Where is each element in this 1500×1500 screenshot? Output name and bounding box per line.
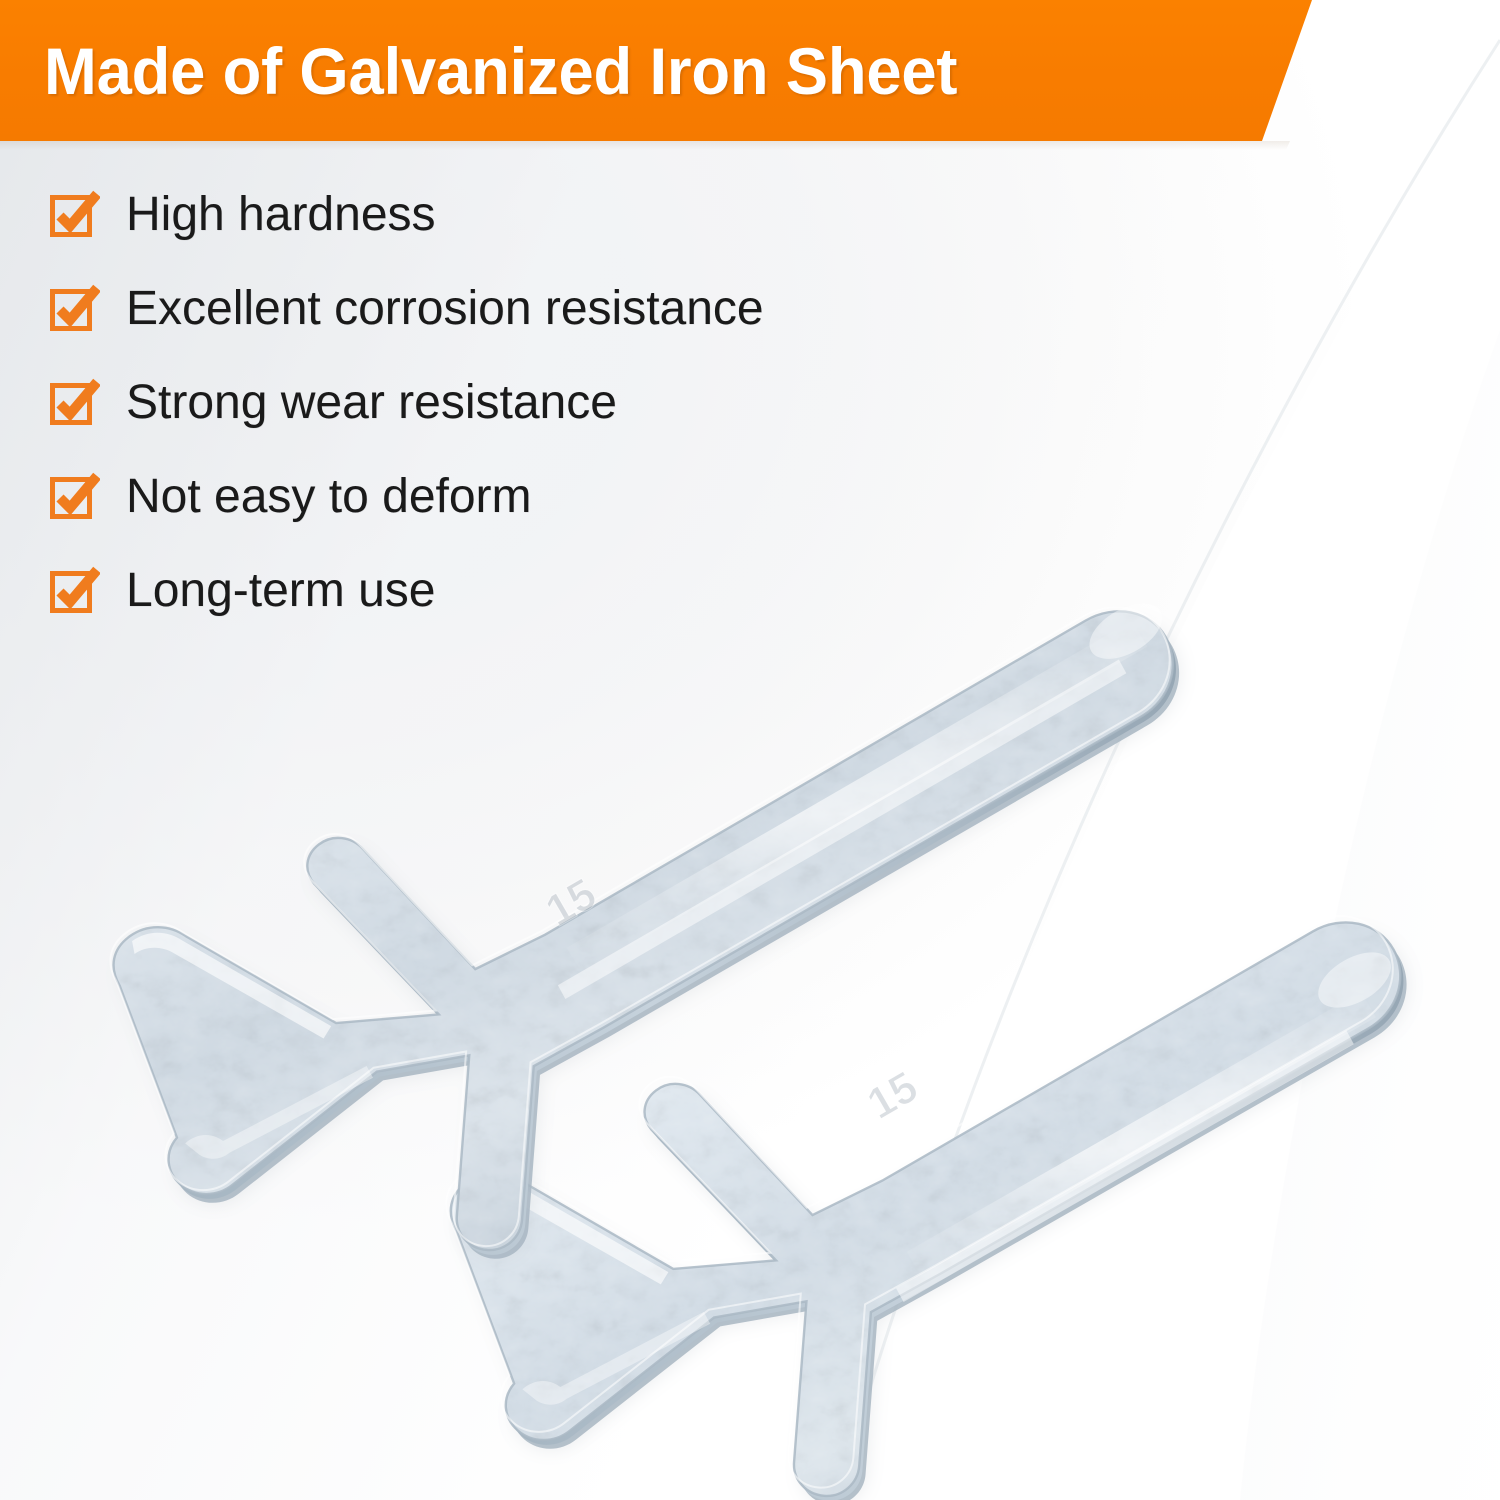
svg-text:15: 15 (859, 1062, 926, 1129)
checkbox-checked-icon (48, 189, 100, 241)
feature-label: Not easy to deform (126, 473, 532, 521)
checkbox-checked-icon (48, 377, 100, 429)
feature-label: Excellent corrosion resistance (126, 285, 764, 333)
feature-label: Long-term use (126, 567, 436, 615)
checkbox-checked-icon (48, 471, 100, 523)
product-feature-image: 15 15 Made (0, 0, 1500, 1500)
banner-drop-shadow (0, 141, 1290, 150)
checkbox-checked-icon (48, 283, 100, 335)
feature-item: Excellent corrosion resistance (48, 262, 764, 356)
page-title: Made of Galvanized Iron Sheet (44, 0, 957, 141)
feature-label: Strong wear resistance (126, 379, 617, 427)
feature-item: Not easy to deform (48, 450, 764, 544)
wrench-lower-size-stamp: 15 (859, 1062, 926, 1129)
feature-item: Strong wear resistance (48, 356, 764, 450)
feature-item: Long-term use (48, 544, 764, 638)
feature-item: High hardness (48, 168, 764, 262)
feature-list: High hardness Excellent corrosion resist… (48, 168, 764, 638)
feature-label: High hardness (126, 191, 436, 239)
checkbox-checked-icon (48, 565, 100, 617)
